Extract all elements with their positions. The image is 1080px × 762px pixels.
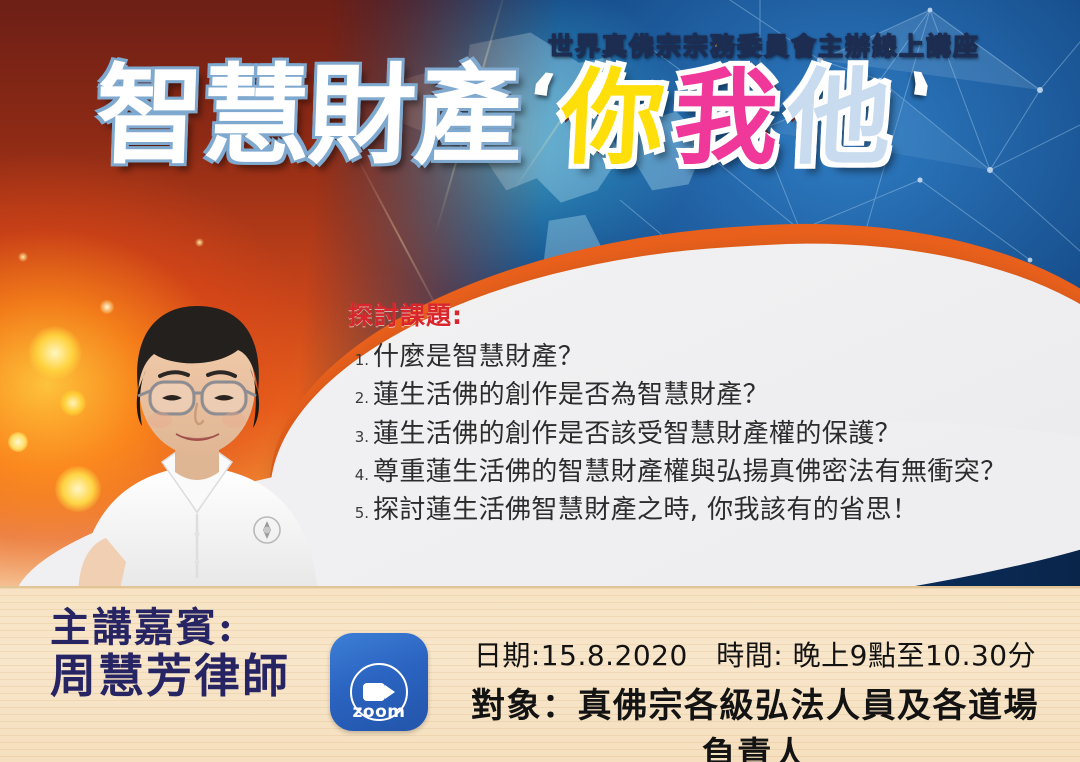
list-item-text: 蓮生活佛的創作是否該受智慧財產權的保護？ [373,418,901,451]
quote-close-icon: ‘ [899,56,939,145]
title-main-text: 智慧財產 [94,62,522,170]
topics-content: 探討課題: 1. 什麼是智慧財產？ 2. 蓮生活佛的創作是否為智慧財產？ 3. … [348,296,1048,532]
speaker-label: 主講嘉賓: [50,606,290,651]
event-audience: 對象：真佛宗各級弘法人員及各道場負責人 [455,678,1055,762]
title-accent-me: 我 [671,66,779,170]
list-item-text: 什麼是智慧財產？ [373,341,584,374]
topics-list: 1. 什麼是智慧財產？ 2. 蓮生活佛的創作是否為智慧財產？ 3. 蓮生活佛的創… [348,341,1048,527]
list-item: 5. 探討蓮生活佛智慧財產之時, 你我該有的省思！ [348,494,1048,527]
list-item: 4. 尊重蓮生活佛的智慧財產權與弘揚真佛密法有無衝突？ [348,456,1048,489]
zoom-wordmark: zoom [330,702,428,722]
list-item-text: 蓮生活佛的創作是否為智慧財產？ [373,379,769,412]
speaker-photo [42,262,352,598]
list-item: 1. 什麼是智慧財產？ [348,341,1048,374]
list-item: 3. 蓮生活佛的創作是否該受智慧財產權的保護？ [348,418,1048,451]
list-item-number: 2. [348,389,369,407]
list-item-number: 4. [348,466,369,484]
bottom-info-bar: 主講嘉賓: 周慧芳律師 zoom 日期:15.8.2020 時間: 晚上9點至1… [0,586,1080,762]
zoom-app-icon[interactable]: zoom [330,633,428,731]
speaker-name: 周慧芳律師 [50,651,290,703]
list-item-number: 5. [348,504,369,522]
event-details: 日期:15.8.2020 時間: 晚上9點至10.30分 對象：真佛宗各級弘法人… [455,634,1055,762]
quote-open-icon: ‘ [520,56,560,145]
event-poster: 世界真佛宗宗務委員會主辦線上講座 智慧財產 ‘ 你 我 他 ‘ [0,0,1080,762]
list-item-text: 尊重蓮生活佛的智慧財產權與弘揚真佛密法有無衝突？ [373,456,1007,489]
list-item-number: 3. [348,428,369,446]
event-schedule: 日期:15.8.2020 時間: 晚上9點至10.30分 [455,634,1055,674]
speaker-block: 主講嘉賓: 周慧芳律師 [50,606,290,702]
list-item: 2. 蓮生活佛的創作是否為智慧財產？ [348,379,1048,412]
title-accent-him: 他 [784,66,892,170]
title-accent-you: 你 [558,66,666,170]
list-item-number: 1. [348,351,369,369]
topics-heading: 探討課題: [348,296,1048,332]
poster-title: 智慧財產 ‘ 你 我 他 ‘ [96,58,935,170]
list-item-text: 探討蓮生活佛智慧財產之時, 你我該有的省思！ [373,494,918,527]
